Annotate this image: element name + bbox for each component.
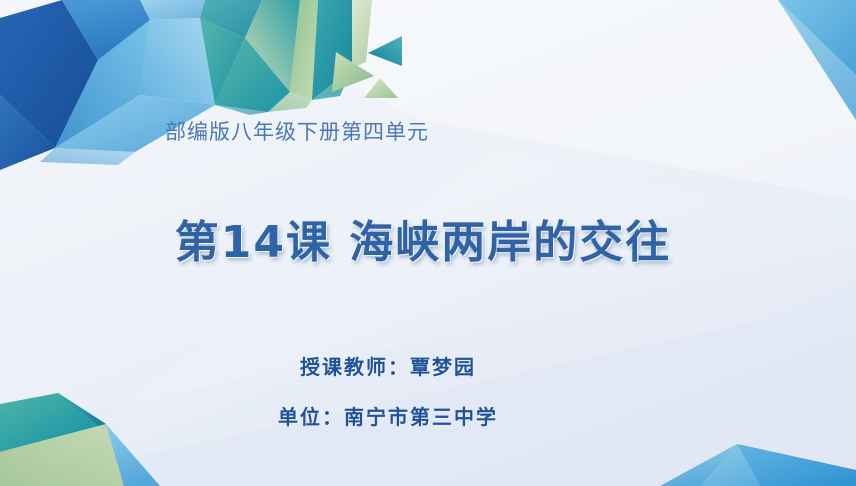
slide-text-layer: 部编版八年级下册第四单元 第14课 海峡两岸的交往 授课教师：覃梦园 单位：南宁… [0,0,856,486]
presenter-label: 授课教师：覃梦园 [0,351,816,380]
presentation-slide: 部编版八年级下册第四单元 第14课 海峡两岸的交往 授课教师：覃梦园 单位：南宁… [0,0,856,486]
organization-label: 单位：南宁市第三中学 [0,401,816,430]
page-title: 第14课 海峡两岸的交往 [0,206,851,270]
unit-label: 部编版八年级下册第四单元 [0,116,725,146]
